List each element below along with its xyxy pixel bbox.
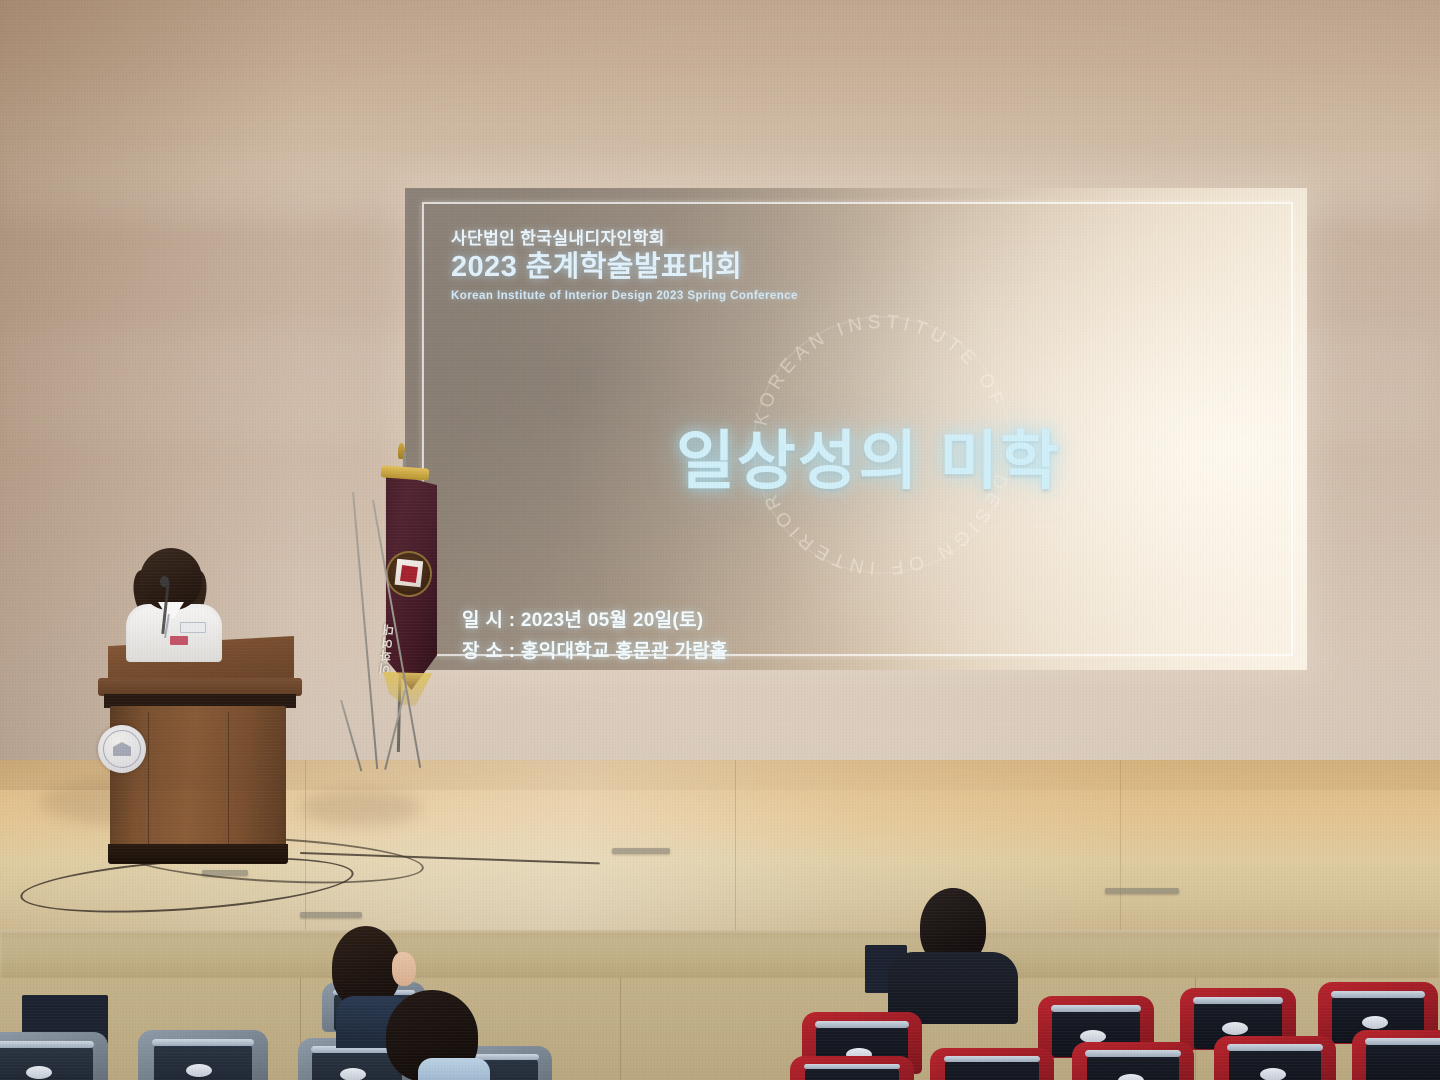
audience-person-shoulders bbox=[418, 1058, 490, 1080]
stage-front-edge bbox=[0, 930, 1440, 982]
seat-right[interactable] bbox=[1072, 1042, 1194, 1080]
podium-base bbox=[108, 844, 288, 864]
audience-person-face bbox=[392, 952, 416, 986]
seat-right[interactable] bbox=[930, 1048, 1054, 1080]
seat-right[interactable] bbox=[1214, 1036, 1336, 1080]
seat-right[interactable] bbox=[1352, 1030, 1440, 1080]
seat-left[interactable] bbox=[138, 1030, 268, 1080]
conference-photo: KOREAN INSTITUTE OF DESIGN OF INTERIOR 사… bbox=[0, 0, 1440, 1080]
seat-right[interactable] bbox=[790, 1056, 914, 1080]
photo-vignette bbox=[0, 0, 1440, 790]
seat-left[interactable] bbox=[0, 1032, 108, 1080]
